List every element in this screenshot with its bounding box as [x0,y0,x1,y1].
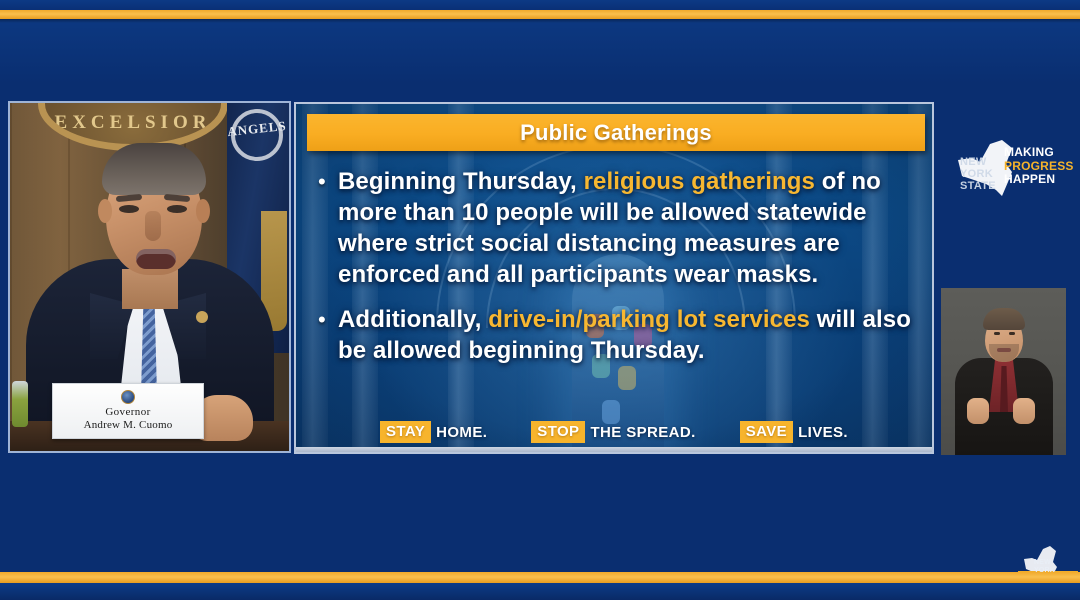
tagline-keyword: STOP [531,421,585,443]
water-bottle [12,381,28,427]
interpreter-eye-left [994,332,1000,335]
interpreter-hand-right [1013,398,1035,424]
top-gold-stripe [0,10,1080,19]
interpreter-eye-right [1009,332,1015,335]
top-stripe-shadow [0,19,1080,23]
tagline-stay-home: STAY HOME. [380,421,487,443]
sign-language-interpreter-panel[interactable] [941,288,1066,455]
seal-text: EXCELSIOR [45,112,221,134]
ny-state-line1: NEW [960,156,987,168]
interpreter-hair [983,308,1025,330]
slide-bullet-list: • Beginning Thursday, religious gatherin… [318,166,918,380]
bullet-marker: • [318,304,338,366]
tagline-keyword: STAY [380,421,431,443]
bullet-text: Additionally, drive-in/parking lot servi… [338,304,918,366]
speaker-hair [102,143,206,195]
presentation-slide[interactable]: Public Gatherings • Beginning Thursday, … [294,102,934,454]
speaker-eye-left [119,205,139,213]
nameplate-title: Governor [105,406,150,419]
new-york-state-logo: NEW YORK STATE MAKING PROGRESS HAPPEN [956,138,1068,200]
ny-state-line3: STATE [960,180,996,192]
watermark-line1: NEW [1034,559,1051,566]
speaker-mouth [136,249,176,269]
bottom-gold-stripe [0,572,1080,583]
nameplate-seal-icon [121,390,135,404]
tagline-keyword: SAVE [740,421,793,443]
tagline-line-making: MAKING [1004,146,1074,160]
ny-state-line2: YORK [960,168,993,180]
speaker-video-panel[interactable]: EXCELSIOR ANGELS Governor Andrew [8,101,291,453]
top-navy-band [0,0,1080,10]
bottom-navy-band [0,583,1080,600]
tagline-line-happen: HAPPEN [1004,173,1074,187]
bullet-segment-highlight: religious gatherings [584,168,815,195]
bullet-segment: Additionally, [338,306,488,333]
slide-bottom-border [296,447,932,452]
speaker-ear-left [98,199,112,223]
speaker-eye-right [167,205,187,213]
lapel-pin [196,311,208,323]
bullet-item: • Additionally, drive-in/parking lot ser… [318,304,918,366]
bullet-item: • Beginning Thursday, religious gatherin… [318,166,918,290]
bullet-segment-highlight: drive-in/parking lot services [488,306,810,333]
speaker-neck [122,269,178,309]
slide-tagline-bar: STAY HOME. STOP THE SPREAD. SAVE LIVES. [296,420,932,444]
bullet-segment: Beginning Thursday, [338,168,584,195]
bullet-marker: • [318,166,338,290]
tagline-line-progress: PROGRESS [1004,160,1074,174]
ny-logo-tagline: MAKING PROGRESS HAPPEN [1004,146,1074,187]
broadcast-screen: EXCELSIOR ANGELS Governor Andrew [0,0,1080,600]
speaker-ear-right [196,199,210,223]
tagline-stop-the-spread: STOP THE SPREAD. [531,421,695,443]
slide-title: Public Gatherings [520,120,712,146]
nameplate-name: Andrew M. Cuomo [84,419,173,432]
slide-title-bar: Public Gatherings [307,114,925,151]
tagline-rest: THE SPREAD. [590,424,695,441]
speaker-nose [145,211,161,241]
tagline-rest: HOME. [436,424,487,441]
interpreter-mouth [997,348,1011,352]
speaker-nameplate: Governor Andrew M. Cuomo [52,383,204,439]
interpreter-hand-left [967,398,989,424]
tagline-rest: LIVES. [798,424,848,441]
tagline-save-lives: SAVE LIVES. [740,421,848,443]
bullet-text: Beginning Thursday, religious gatherings… [338,166,918,290]
